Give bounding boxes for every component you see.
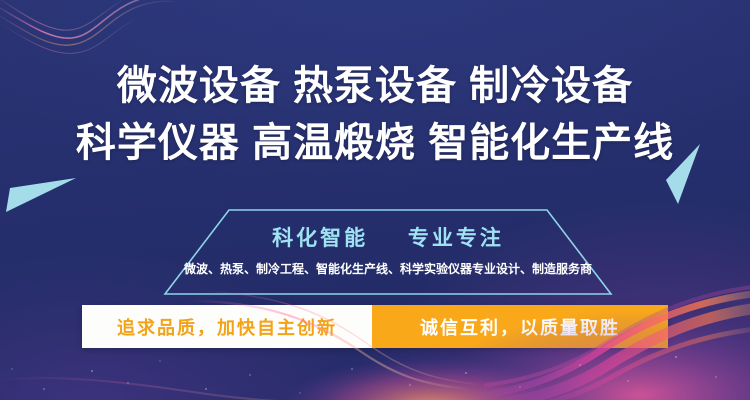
promo-banner: 微波设备 热泵设备 制冷设备 科学仪器 高温煅烧 智能化生产线 科化智能 专业专…	[0, 0, 750, 400]
slogan-left: 追求品质，加快自主创新	[82, 305, 372, 348]
headline-line-1: 微波设备 热泵设备 制冷设备	[0, 58, 750, 115]
trapezoid-panel: 科化智能 专业专注 微波、热泵、制冷工程、智能化生产线、科学实验仪器专业设计、制…	[163, 208, 613, 296]
panel-subtitle: 微波、热泵、制冷工程、智能化生产线、科学实验仪器专业设计、制造服务商	[163, 260, 613, 277]
slogan-right: 诚信互利，以质量取胜	[372, 305, 668, 348]
panel-title-left: 科化智能	[272, 227, 368, 250]
page-title: 微波设备 热泵设备 制冷设备 科学仪器 高温煅烧 智能化生产线	[0, 58, 750, 172]
slogan-bar-group: 追求品质，加快自主创新 诚信互利，以质量取胜	[82, 305, 668, 348]
panel-title: 科化智能 专业专注	[163, 222, 613, 252]
headline-line-2: 科学仪器 高温煅烧 智能化生产线	[0, 115, 750, 172]
panel-title-right: 专业专注	[408, 227, 504, 250]
cyan-triangle-left-icon	[6, 176, 82, 216]
